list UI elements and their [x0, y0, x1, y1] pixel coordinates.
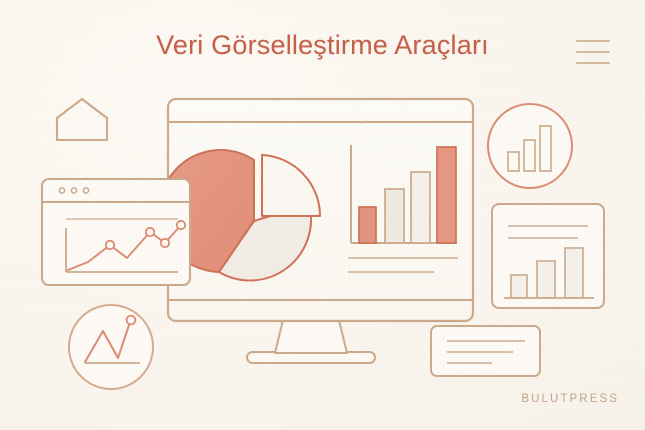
hamburger-line-2 [576, 51, 610, 53]
brand-wordmark: BULUTPRESS [521, 393, 619, 405]
house-outline-icon [57, 99, 107, 140]
page-title: Veri Görselleştirme Araçları [0, 30, 645, 61]
browser-window-card [42, 179, 190, 285]
circular-bar-chart-badge [488, 104, 572, 188]
text-note-card [431, 326, 540, 376]
circular-line-chart-badge [69, 305, 153, 389]
illustration-canvas: Veri Görselleştirme Araçları BULUTPRESS [0, 0, 645, 430]
bar-chart-card [492, 204, 604, 308]
hamburger-line-1 [576, 40, 610, 42]
hamburger-menu-icon[interactable] [576, 40, 610, 64]
illustration-svg [0, 0, 645, 430]
hamburger-line-3 [576, 62, 610, 64]
